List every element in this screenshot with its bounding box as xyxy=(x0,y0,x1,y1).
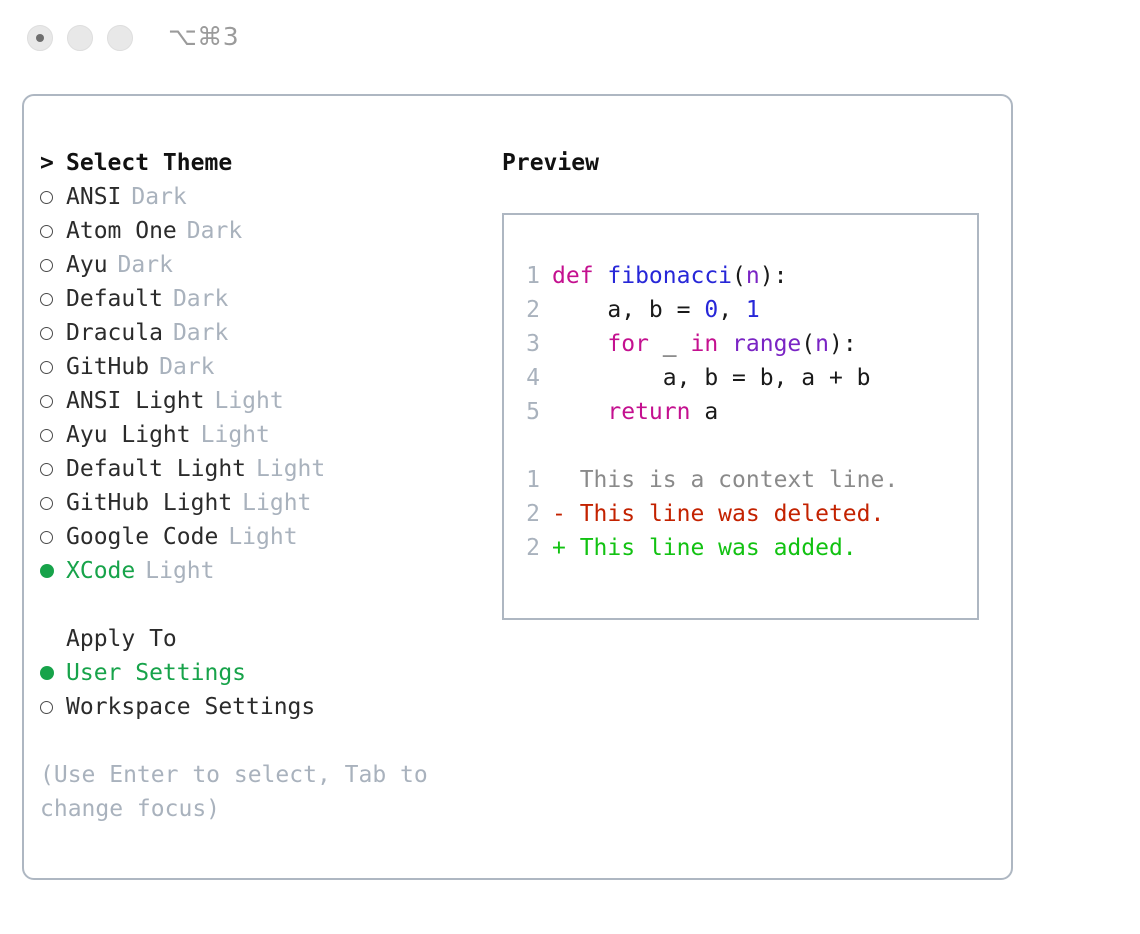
line-number: 2 xyxy=(518,531,540,565)
line-number: 3 xyxy=(518,327,540,361)
theme-option-label: Ayu xyxy=(66,248,108,282)
theme-option-10[interactable]: Google CodeLight xyxy=(40,520,500,554)
theme-option-label: GitHub xyxy=(66,350,149,384)
code-preview-box: 1def fibonacci(n):2 a, b = 0, 13 for _ i… xyxy=(502,213,979,620)
code-line: 2 a, b = 0, 1 xyxy=(518,293,969,327)
code-token-param: n xyxy=(815,331,829,357)
bullet-shape xyxy=(40,701,53,714)
line-number: 5 xyxy=(518,395,540,429)
theme-option-label: Default Light xyxy=(66,452,246,486)
code-token-pun: , xyxy=(718,297,746,323)
line-number: 4 xyxy=(518,361,540,395)
preview-column: Preview 1def fibonacci(n):2 a, b = 0, 13… xyxy=(502,146,1002,620)
theme-option-variant-tag: Light xyxy=(228,520,297,554)
traffic-light-group xyxy=(27,25,133,51)
code-preview-content: 1def fibonacci(n):2 a, b = 0, 13 for _ i… xyxy=(518,259,969,565)
theme-option-variant-tag: Dark xyxy=(187,214,242,248)
theme-option-8[interactable]: Default LightLight xyxy=(40,452,500,486)
radio-unselected-icon xyxy=(40,317,66,351)
preview-title: Preview xyxy=(502,146,1002,180)
radio-unselected-icon xyxy=(40,351,66,385)
code-token-blt: range xyxy=(732,331,801,357)
theme-option-label: ANSI Light xyxy=(66,384,204,418)
theme-option-variant-tag: Dark xyxy=(173,316,228,350)
theme-option-0[interactable]: ANSIDark xyxy=(40,180,500,214)
code-token-kw: def xyxy=(552,263,607,289)
line-number: 2 xyxy=(518,497,540,531)
page-title: Select Theme xyxy=(66,146,232,180)
theme-option-variant-tag: Light xyxy=(256,452,325,486)
diff-text: This line was deleted. xyxy=(566,501,885,527)
bullet-shape xyxy=(40,497,53,510)
radio-unselected-icon xyxy=(40,283,66,317)
bullet-shape xyxy=(40,191,53,204)
theme-option-2[interactable]: AyuDark xyxy=(40,248,500,282)
apply-to-option-label: User Settings xyxy=(66,656,246,690)
theme-option-label: Default xyxy=(66,282,163,316)
bullet-shape xyxy=(40,666,54,680)
app-window: ⌥⌘3 > Select Theme ANSIDarkAtom OneDarkA… xyxy=(0,0,1140,934)
theme-option-variant-tag: Dark xyxy=(173,282,228,316)
diff-sign: + xyxy=(552,535,566,561)
line-number: 1 xyxy=(518,463,540,497)
keyboard-hint: (Use Enter to select, Tab to change focu… xyxy=(40,758,440,826)
code-token-num: 0 xyxy=(704,297,718,323)
apply-to-option-1[interactable]: Workspace Settings xyxy=(40,690,500,724)
code-token-pun: ( xyxy=(801,331,815,357)
diff-line-deleted: 2- This line was deleted. xyxy=(518,497,969,531)
radio-unselected-icon xyxy=(40,691,66,725)
code-token-kw: in xyxy=(690,331,718,357)
apply-to-label: Apply To xyxy=(66,622,177,656)
apply-to-option-0[interactable]: User Settings xyxy=(40,656,500,690)
theme-option-1[interactable]: Atom OneDark xyxy=(40,214,500,248)
bullet-shape xyxy=(40,531,53,544)
code-token-fn: fibonacci xyxy=(607,263,732,289)
theme-option-variant-tag: Light xyxy=(145,554,214,588)
line-number: 1 xyxy=(518,259,540,293)
code-diff-gap xyxy=(518,429,969,463)
code-token-kw: for xyxy=(607,331,649,357)
hint-spacer xyxy=(40,724,500,758)
code-block: 1def fibonacci(n):2 a, b = 0, 13 for _ i… xyxy=(518,259,969,429)
theme-option-11[interactable]: XCodeLight xyxy=(40,554,500,588)
theme-list-column: > Select Theme ANSIDarkAtom OneDarkAyuDa… xyxy=(40,146,500,826)
bullet-shape xyxy=(40,564,54,578)
code-token-pun: ): xyxy=(829,331,857,357)
code-token-kw: return xyxy=(607,399,690,425)
bullet-shape xyxy=(40,259,53,272)
code-token-pun xyxy=(718,331,732,357)
radio-unselected-icon xyxy=(40,487,66,521)
bullet-shape xyxy=(40,293,53,306)
theme-option-variant-tag: Dark xyxy=(131,180,186,214)
radio-unselected-icon xyxy=(40,249,66,283)
radio-unselected-icon xyxy=(40,385,66,419)
theme-option-label: Atom One xyxy=(66,214,177,248)
theme-option-label: Dracula xyxy=(66,316,163,350)
radio-unselected-icon xyxy=(40,419,66,453)
theme-option-list: ANSIDarkAtom OneDarkAyuDarkDefaultDarkDr… xyxy=(40,180,500,588)
theme-option-7[interactable]: Ayu LightLight xyxy=(40,418,500,452)
diff-text: This line was added. xyxy=(566,535,857,561)
theme-option-variant-tag: Dark xyxy=(118,248,173,282)
bullet-shape xyxy=(40,463,53,476)
theme-option-variant-tag: Dark xyxy=(159,350,214,384)
theme-option-9[interactable]: GitHub LightLight xyxy=(40,486,500,520)
zoom-button[interactable] xyxy=(107,25,133,51)
list-spacer xyxy=(40,588,500,622)
theme-option-label: ANSI xyxy=(66,180,121,214)
bullet-shape xyxy=(40,327,53,340)
prompt-marker-icon: > xyxy=(40,146,66,180)
window-title: ⌥⌘3 xyxy=(168,22,239,51)
theme-option-label: Ayu Light xyxy=(66,418,191,452)
diff-line-added: 2+ This line was added. xyxy=(518,531,969,565)
apply-to-heading: Apply To xyxy=(40,622,500,656)
diff-line-context: 1 This is a context line. xyxy=(518,463,969,497)
active-dot-icon xyxy=(36,34,44,42)
theme-option-label: XCode xyxy=(66,554,135,588)
code-token-pun: ): xyxy=(760,263,788,289)
code-token-num: 1 xyxy=(746,297,760,323)
theme-option-variant-tag: Light xyxy=(214,384,283,418)
code-line: 1def fibonacci(n): xyxy=(518,259,969,293)
code-token-param: n xyxy=(746,263,760,289)
code-token-id: a, b = b, a + b xyxy=(552,365,871,391)
theme-option-label: Google Code xyxy=(66,520,218,554)
theme-option-6[interactable]: ANSI LightLight xyxy=(40,384,500,418)
minimize-button[interactable] xyxy=(67,25,93,51)
bullet-shape xyxy=(40,225,53,238)
diff-block: 1 This is a context line.2- This line wa… xyxy=(518,463,969,565)
theme-option-3[interactable]: DefaultDark xyxy=(40,282,500,316)
code-token-id: a xyxy=(690,399,718,425)
theme-option-variant-tag: Light xyxy=(201,418,270,452)
radio-selected-icon xyxy=(40,656,66,690)
radio-selected-icon xyxy=(40,554,66,588)
code-token-pun xyxy=(552,399,607,425)
close-button[interactable] xyxy=(27,25,53,51)
code-token-id: a, b = xyxy=(552,297,704,323)
bullet-shape xyxy=(40,429,53,442)
code-token-pun: ( xyxy=(732,263,746,289)
bullet-shape xyxy=(40,361,53,374)
bullet-shape xyxy=(40,395,53,408)
window-titlebar: ⌥⌘3 xyxy=(0,0,1140,76)
code-token-id: _ xyxy=(649,331,691,357)
code-token-pun xyxy=(552,331,607,357)
apply-to-option-label: Workspace Settings xyxy=(66,690,315,724)
diff-sign: - xyxy=(552,501,566,527)
apply-to-option-list: User SettingsWorkspace Settings xyxy=(40,656,500,724)
diff-sign xyxy=(552,467,566,493)
line-number: 2 xyxy=(518,293,540,327)
code-line: 4 a, b = b, a + b xyxy=(518,361,969,395)
diff-text: This is a context line. xyxy=(566,467,898,493)
theme-option-4[interactable]: DraculaDark xyxy=(40,316,500,350)
radio-unselected-icon xyxy=(40,521,66,555)
radio-unselected-icon xyxy=(40,453,66,487)
theme-option-variant-tag: Light xyxy=(242,486,311,520)
radio-unselected-icon xyxy=(40,215,66,249)
radio-unselected-icon xyxy=(40,181,66,215)
code-line: 3 for _ in range(n): xyxy=(518,327,969,361)
select-theme-heading: > Select Theme xyxy=(40,146,500,180)
theme-picker-panel: > Select Theme ANSIDarkAtom OneDarkAyuDa… xyxy=(22,94,1013,880)
code-line: 5 return a xyxy=(518,395,969,429)
theme-option-5[interactable]: GitHubDark xyxy=(40,350,500,384)
apply-to-indent xyxy=(40,622,66,656)
theme-option-label: GitHub Light xyxy=(66,486,232,520)
